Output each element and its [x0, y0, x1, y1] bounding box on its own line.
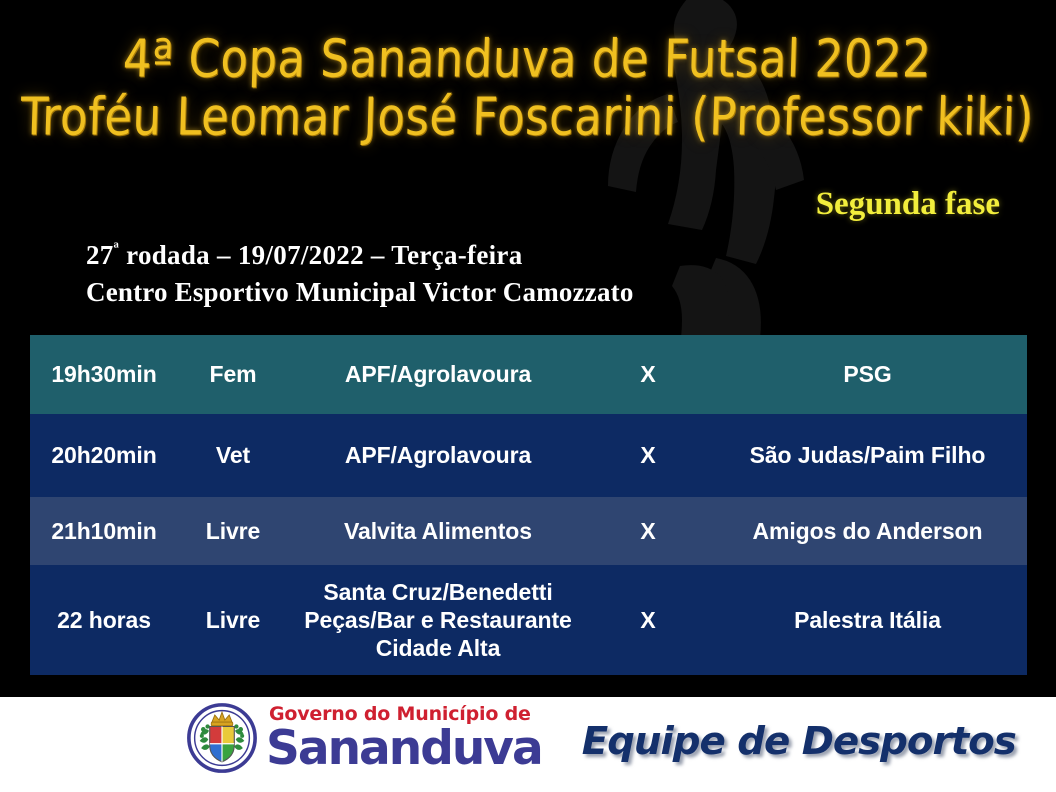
match-home: APF/Agrolavoura: [288, 335, 588, 414]
match-time: 20h20min: [30, 414, 178, 497]
poster-title-line-2: Troféu Leomar José Foscarini (Professor …: [0, 88, 1056, 146]
table-row: 22 horas Livre Santa Cruz/Benedetti Peça…: [30, 565, 1027, 675]
match-category: Livre: [178, 497, 288, 565]
round-date-line: 27ª rodada – 19/07/2022 – Terça-feira: [86, 237, 634, 274]
match-time: 21h10min: [30, 497, 178, 565]
match-away: Palestra Itália: [708, 565, 1027, 675]
match-away: Amigos do Anderson: [708, 497, 1027, 565]
match-home: Santa Cruz/Benedetti Peças/Bar e Restaur…: [288, 565, 588, 675]
table-row: 21h10min Livre Valvita Alimentos X Amigo…: [30, 497, 1027, 565]
poster-title-block: 4ª Copa Sananduva de Futsal 2022 Troféu …: [0, 30, 1056, 139]
venue-line: Centro Esportivo Municipal Victor Camozz…: [86, 274, 634, 311]
match-schedule-table: 19h30min Fem APF/Agrolavoura X PSG 20h20…: [30, 335, 1027, 675]
futsal-schedule-poster: 4ª Copa Sananduva de Futsal 2022 Troféu …: [0, 0, 1056, 792]
round-number: 27: [86, 240, 114, 270]
phase-label: Segunda fase: [816, 186, 1000, 223]
match-time: 22 horas: [30, 565, 178, 675]
table-row: 20h20min Vet APF/Agrolavoura X São Judas…: [30, 414, 1027, 497]
match-versus: X: [588, 414, 708, 497]
match-home: Valvita Alimentos: [288, 497, 588, 565]
match-versus: X: [588, 335, 708, 414]
municipal-coat-of-arms-icon: [186, 702, 258, 774]
table-row: 19h30min Fem APF/Agrolavoura X PSG: [30, 335, 1027, 414]
brand-city-name: Sananduva: [266, 725, 542, 772]
round-date-text: rodada – 19/07/2022 – Terça-feira: [119, 240, 522, 270]
match-versus: X: [588, 497, 708, 565]
poster-footer: Governo do Município de Sananduva Equipe…: [0, 697, 1056, 792]
match-away: PSG: [708, 335, 1027, 414]
match-versus: X: [588, 565, 708, 675]
match-away: São Judas/Paim Filho: [708, 414, 1027, 497]
match-home: APF/Agrolavoura: [288, 414, 588, 497]
match-category: Vet: [178, 414, 288, 497]
municipality-brand: Governo do Município de Sananduva: [186, 702, 542, 774]
brand-wordmark: Governo do Município de Sananduva: [266, 705, 542, 772]
match-time: 19h30min: [30, 335, 178, 414]
department-label: Equipe de Desportos: [582, 719, 1016, 763]
match-category: Livre: [178, 565, 288, 675]
match-category: Fem: [178, 335, 288, 414]
event-meta-block: 27ª rodada – 19/07/2022 – Terça-feira Ce…: [86, 237, 634, 310]
poster-title-line-1: 4ª Copa Sananduva de Futsal 2022: [0, 30, 1056, 88]
